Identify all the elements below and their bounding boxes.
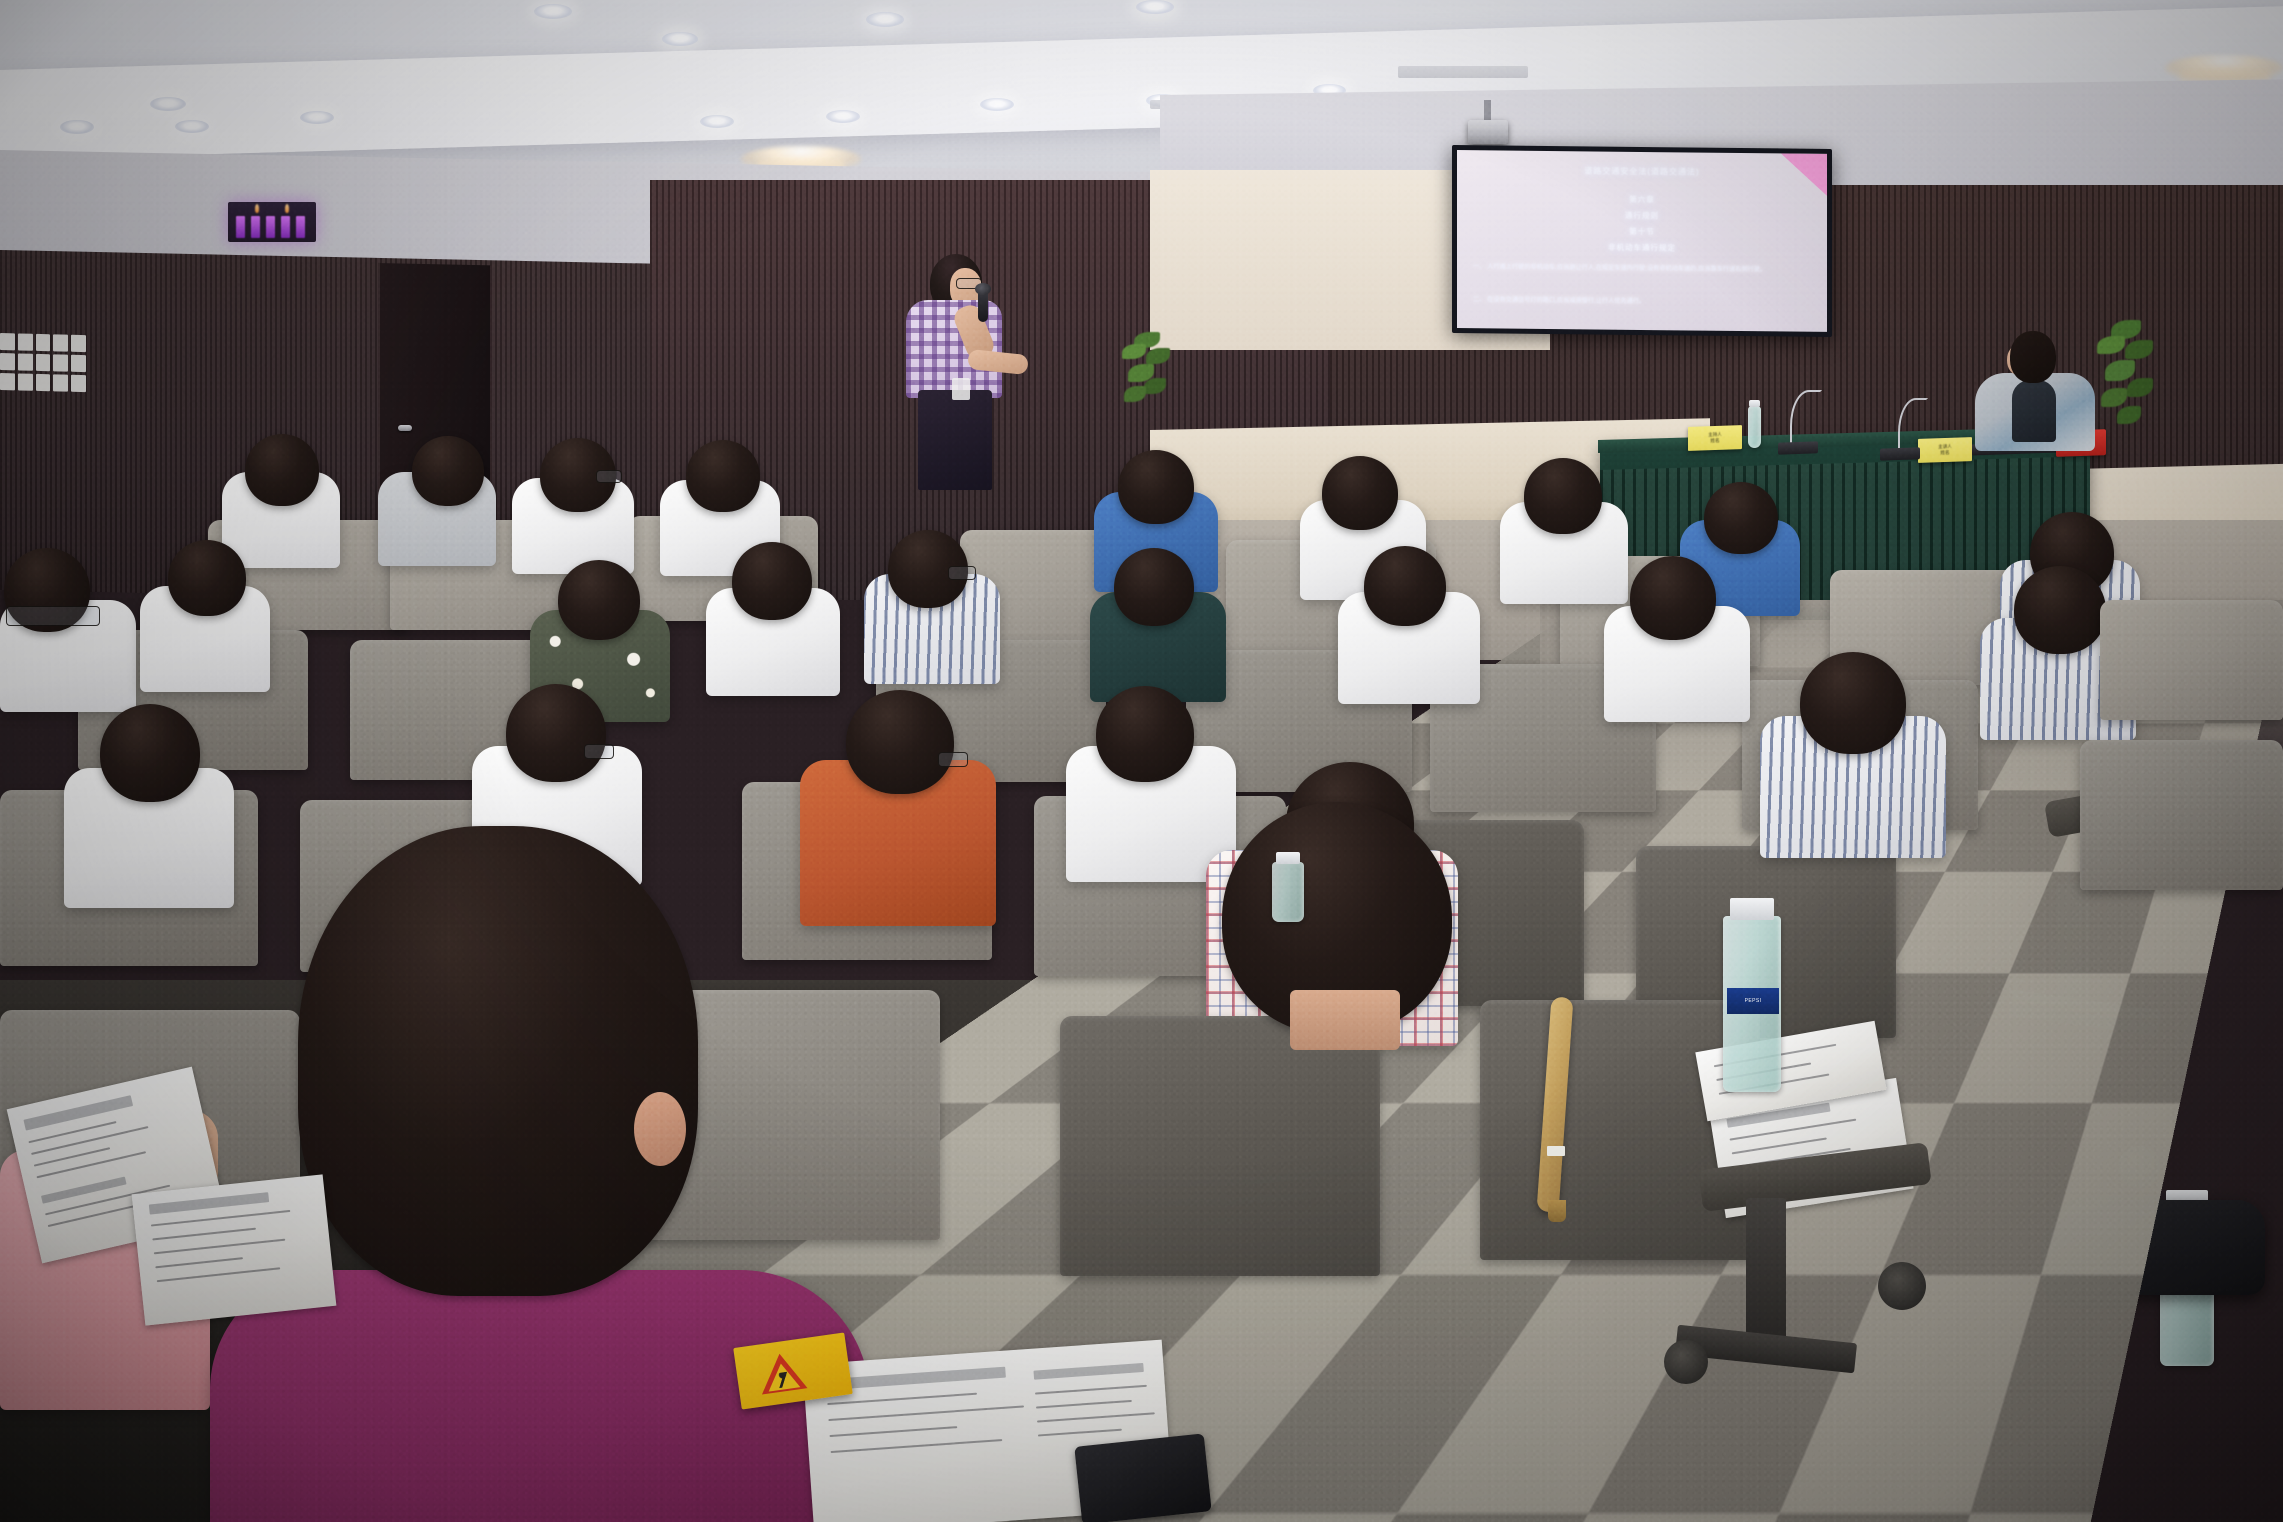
downlight-1 [60, 120, 94, 134]
name-placard-left: 主持人 姓名 [1688, 425, 1742, 451]
table-water-bottle [1748, 406, 1761, 448]
audience-head-a7 [1524, 458, 1602, 534]
audience-head-a8 [1704, 482, 1778, 554]
chair-pedestal-right-1 [1746, 1198, 1786, 1348]
chair-caster-right-1 [1664, 1340, 1708, 1384]
downlight-6 [662, 32, 698, 46]
moderator-inner-top [2012, 380, 2056, 442]
projection-screen-surface: 道路交通安全法(道路交通法) 第六章 通行规则 第十节 非机动车通行规定 一、 … [1457, 150, 1827, 332]
chair-caster-right-2 [2118, 1146, 2160, 1188]
table-water-bottle-cap [1749, 400, 1760, 407]
ceiling-projector [1468, 120, 1508, 144]
projection-screen: 道路交通安全法(道路交通法) 第六章 通行规则 第十节 非机动车通行规定 一、 … [1452, 145, 1832, 337]
placard-left-line2: 姓名 [1710, 438, 1719, 445]
umbrella-handle[interactable] [1548, 1200, 1566, 1222]
slide-subsection: 第十节 [1629, 226, 1655, 237]
illuminated-wall-sign [228, 202, 316, 242]
road-worker-pictogram [775, 1372, 791, 1389]
audience-head-a2 [412, 436, 484, 506]
water-bottle-midrow-cap [1276, 852, 1300, 864]
audience-head-a6 [1322, 456, 1398, 530]
downlight-3 [175, 120, 209, 133]
audience-glasses-c3 [938, 752, 968, 767]
microphone-base-left [1778, 441, 1818, 454]
audience-head-c4 [1096, 686, 1194, 782]
water-bottle-aisle-cap [1730, 898, 1774, 920]
audience-ear-front [634, 1092, 686, 1166]
slide-body-item-1: 一、 人行道上行驶的非机动车,应当避让行人,在规定车道内行驶;没有非机动车道的,… [1473, 262, 1773, 275]
chair-front-3[interactable] [1060, 1016, 1380, 1276]
audience-head-b8 [1630, 556, 1716, 640]
chair-far-right-b[interactable] [2080, 740, 2283, 890]
chair-pedestal-right-2 [2056, 884, 2090, 1014]
downlight-4 [300, 111, 334, 124]
audience-head-b7 [1364, 546, 1446, 626]
microphone-head [975, 283, 991, 295]
wall-tile-panel [0, 333, 86, 392]
audience-glasses-b1 [6, 606, 100, 626]
speaker-trousers [918, 390, 992, 490]
speaker-badge [952, 378, 970, 400]
audience-glasses-a3 [596, 470, 622, 483]
downlight-2 [150, 97, 186, 111]
downlight-10 [980, 98, 1014, 111]
chair-caster-right-3 [1878, 1262, 1926, 1310]
slide-chapter: 第六章 [1629, 194, 1655, 205]
audience-head-a4 [686, 440, 760, 512]
audience-head-a1 [245, 434, 319, 506]
downlight-7 [700, 115, 734, 128]
audience-head-c3 [846, 690, 954, 794]
audience-neck-front-plaid [1290, 990, 1400, 1050]
audience-head-b2 [168, 540, 246, 616]
slide-section: 通行规则 [1625, 210, 1659, 221]
moderator-head [2010, 331, 2056, 383]
audience-glasses-c2 [584, 744, 614, 759]
audience-head-c6 [1800, 652, 1906, 754]
audience-head-c2 [506, 684, 606, 782]
slide-title: 道路交通安全法(道路交通法) [1584, 165, 1699, 177]
water-bottle-midrow[interactable] [1272, 862, 1304, 922]
audience-head-b3 [558, 560, 640, 640]
downlight-11 [1136, 0, 1174, 14]
audience-head-a5 [1118, 450, 1194, 524]
chair-far-right-a[interactable] [2100, 600, 2283, 720]
slide-corner-accent [1781, 153, 1827, 195]
potted-plant-stage-right [2095, 320, 2173, 440]
door-handle[interactable] [398, 425, 412, 431]
potted-plant-stage-left [1120, 330, 1186, 418]
handout-page-left-open[interactable] [132, 1174, 337, 1325]
audience-head-front-magenta [298, 826, 698, 1296]
audience-head-b4 [732, 542, 812, 620]
downlight-5 [534, 4, 572, 19]
downlight-8 [826, 110, 860, 123]
slide-body-item-2: 二、 在没有交通信号灯的路口,应当减速慢行,让行人优先通行。 [1473, 295, 1743, 307]
audience-head-c1 [100, 704, 200, 802]
placard-right-line2: 姓名 [1940, 450, 1949, 457]
umbrella-label-tab [1547, 1146, 1565, 1156]
audience-head-b9 [2014, 566, 2106, 654]
downlight-9 [866, 12, 904, 27]
slide-subtitle: 非机动车通行规定 [1608, 242, 1676, 254]
water-bottle-aisle-label: PEPSI [1727, 988, 1779, 1014]
audience-glasses-b5 [948, 566, 976, 580]
audience-head-b6 [1114, 548, 1194, 626]
floor-bag[interactable] [2050, 1200, 2265, 1295]
smartphone[interactable] [1074, 1433, 1211, 1522]
microphone-base-right [1880, 447, 1920, 460]
ceiling-air-vent [1398, 66, 1528, 78]
auditorium-photo: 道路交通安全法(道路交通法) 第六章 通行规则 第十节 非机动车通行规定 一、 … [0, 0, 2283, 1522]
